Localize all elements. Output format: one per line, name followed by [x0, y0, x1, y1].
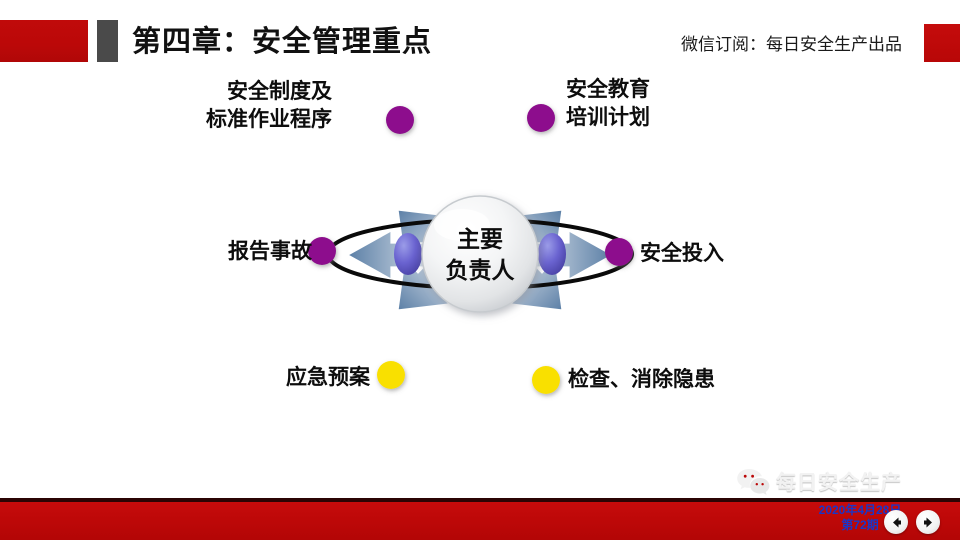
node-label-right-line1: 安全投入 — [640, 240, 724, 268]
node-dot-top-left[interactable] — [386, 106, 414, 134]
node-label-top-left: 安全制度及 标准作业程序 — [206, 78, 332, 134]
node-dot-bottom-right[interactable] — [532, 366, 560, 394]
arrow-left-icon — [890, 516, 903, 529]
node-label-top-right-line2: 培训计划 — [566, 104, 650, 132]
node-label-bottom-left-line1: 应急预案 — [286, 364, 370, 392]
slide-canvas: 第四章：安全管理重点 微信订阅：每日安全生产出品 — [0, 0, 960, 540]
radial-diagram — [0, 0, 960, 500]
node-label-top-left-line2: 标准作业程序 — [206, 106, 332, 134]
node-dot-bottom-left[interactable] — [377, 361, 405, 389]
node-label-top-right-line1: 安全教育 — [566, 76, 650, 104]
node-dot-left[interactable] — [308, 237, 336, 265]
node-dot-top-right[interactable] — [527, 104, 555, 132]
accent-ball-left — [394, 233, 422, 275]
node-label-right: 安全投入 — [640, 240, 724, 268]
prev-slide-button[interactable] — [884, 510, 908, 534]
wechat-icon — [736, 467, 770, 495]
wechat-account-name: 每日安全生产 — [776, 466, 902, 495]
node-label-bottom-right-line1: 检查、消除隐患 — [568, 366, 715, 394]
next-slide-button[interactable] — [916, 510, 940, 534]
wechat-brand: 每日安全生产 — [736, 466, 902, 495]
node-label-bottom-right: 检查、消除隐患 — [568, 366, 715, 394]
node-dot-right[interactable] — [605, 238, 633, 266]
node-label-left-line1: 报告事故 — [228, 238, 312, 266]
node-label-bottom-left: 应急预案 — [286, 364, 370, 392]
arrow-right-icon — [922, 516, 935, 529]
node-label-left: 报告事故 — [228, 238, 312, 266]
node-label-top-left-line1: 安全制度及 — [206, 78, 332, 106]
accent-ball-right — [538, 233, 566, 275]
node-label-top-right: 安全教育 培训计划 — [566, 76, 650, 132]
sphere-highlight — [434, 209, 490, 241]
